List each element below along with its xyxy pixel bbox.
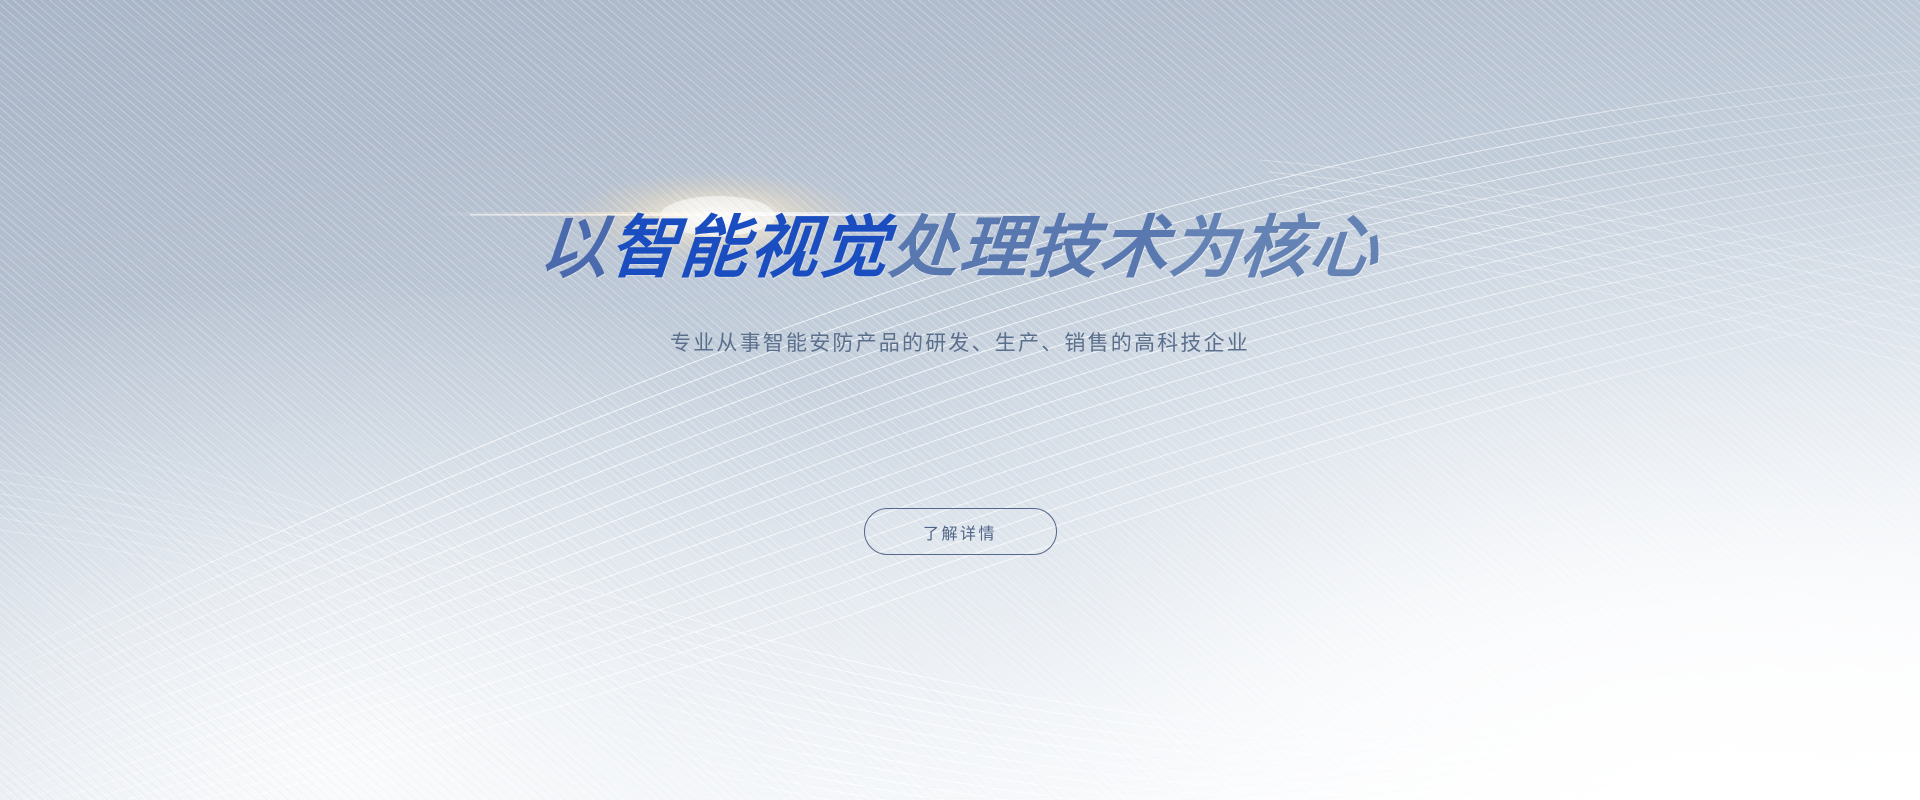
hero-subtitle: 专业从事智能安防产品的研发、生产、销售的高科技企业 <box>0 328 1920 360</box>
learn-more-button[interactable]: 了解详情 <box>864 508 1057 555</box>
headline-segment-3: 处理技术 <box>887 214 1173 282</box>
page-title: 以智能视觉处理技术为核心 <box>0 214 1920 282</box>
cta-container: 了解详情 <box>0 508 1920 555</box>
hero-content: 以智能视觉处理技术为核心 专业从事智能安防产品的研发、生产、销售的高科技企业 了… <box>0 0 1920 800</box>
headline-segment-4: 为核心 <box>1167 214 1383 282</box>
hero-banner: 以智能视觉处理技术为核心 专业从事智能安防产品的研发、生产、销售的高科技企业 了… <box>0 0 1920 800</box>
headline-segment-2: 智能视觉 <box>607 214 893 282</box>
headline-segment-1: 以 <box>537 214 613 282</box>
